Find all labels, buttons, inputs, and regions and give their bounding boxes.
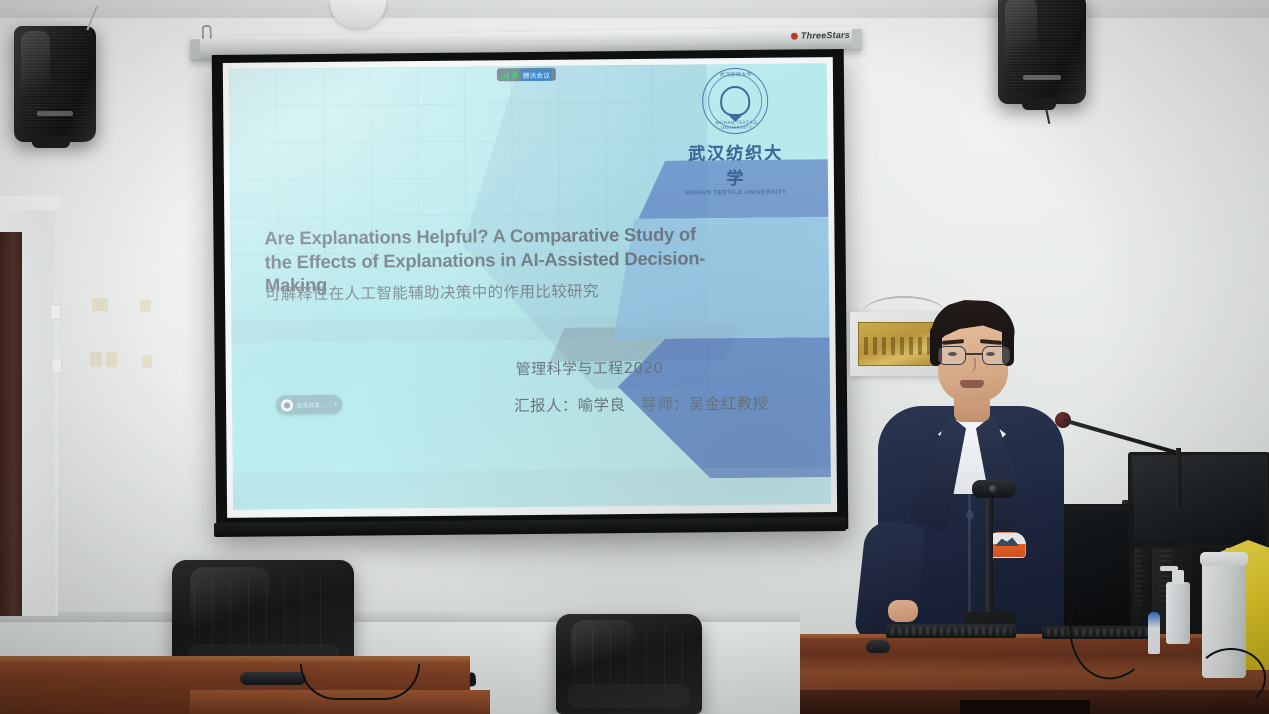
chair-lumbar	[568, 684, 691, 708]
mouse[interactable]	[866, 640, 890, 653]
slide-shape-bottom-band	[233, 467, 831, 510]
presenter-mouth	[960, 380, 984, 388]
wall-tape-mark	[142, 355, 152, 368]
slide-program-label: 管理科学与工程2020	[516, 357, 664, 379]
projector-screen-surface: 武汉纺织大学 WUHAN TEXTILE UNIVERSITY 武汉纺织大学 W…	[223, 57, 837, 518]
glasses-lens-right	[982, 346, 1010, 365]
webcam[interactable]	[972, 480, 1016, 498]
share-status-label: 正在共享…	[297, 400, 330, 408]
door-header-left	[0, 196, 60, 210]
chair-highlight	[190, 567, 270, 629]
jacket-button	[967, 512, 973, 518]
university-name-cn: 武汉纺织大学	[682, 139, 790, 190]
user-avatar-icon	[281, 399, 293, 411]
chair-highlight	[571, 620, 635, 672]
speaker-brand-badge	[1023, 75, 1062, 80]
seal-arc-top-text: 武汉纺织大学	[703, 71, 769, 79]
door-left[interactable]	[0, 232, 22, 616]
wall-tape-mark	[92, 298, 108, 311]
screen-brand-label: ThreeStars	[791, 30, 850, 41]
wall-tape-mark	[90, 352, 102, 367]
housing-endcap-right	[852, 29, 862, 49]
tumbler-lid	[1200, 552, 1248, 566]
table-cable	[300, 664, 420, 700]
three-stars-logo-icon	[791, 33, 798, 40]
green-status-dot-icon	[512, 72, 518, 78]
speaker-sheen	[1005, 0, 1037, 97]
desk-cable	[1196, 648, 1266, 708]
speaker-bracket-right	[1022, 98, 1056, 110]
meeting-status-chip[interactable]: 腾讯会议	[497, 68, 556, 82]
classroom-scene: ThreeStars 武汉纺织大学 WUHAN TEXTILE	[0, 0, 1269, 714]
office-chair-right[interactable]	[556, 614, 702, 714]
slide-title-chinese: 可解释性在人工智能辅助决策中的作用比较研究	[265, 278, 735, 305]
presenter-hand	[888, 600, 918, 622]
seal-glyph-icon	[720, 86, 750, 116]
webcam-base	[964, 612, 1016, 624]
projector-screen-frame: 武汉纺织大学 WUHAN TEXTILE UNIVERSITY 武汉纺织大学 W…	[212, 49, 849, 535]
wall-switch-plate[interactable]	[51, 358, 62, 374]
signal-bars-icon	[501, 71, 509, 79]
housing-endcap-left	[190, 39, 200, 59]
secondary-monitor[interactable]	[1128, 452, 1269, 548]
jacket-zipper	[968, 492, 971, 612]
slide-presenter-label: 汇报人：喻学良 导师：吴金红教授	[514, 392, 769, 416]
screen-pull-hook-icon[interactable]	[202, 25, 212, 39]
wall-tape-mark	[140, 300, 151, 312]
glasses-bridge	[966, 353, 982, 355]
hand-sanitizer-bottle	[1166, 582, 1190, 644]
monitor-panel	[1133, 457, 1265, 543]
wall-tape-mark	[106, 352, 117, 367]
university-seal-icon: 武汉纺织大学 WUHAN TEXTILE UNIVERSITY	[702, 68, 769, 135]
keyboard[interactable]	[886, 624, 1016, 638]
screen-brand-text: ThreeStars	[801, 30, 850, 41]
university-name-en: WUHAN TEXTILE UNIVERSITY	[682, 189, 790, 196]
chevron-left-icon[interactable]: ‹	[334, 400, 337, 408]
speaker-brand-badge	[37, 111, 73, 116]
meeting-app-label: 腾讯会议	[521, 68, 552, 80]
presentation-slide: 武汉纺织大学 WUHAN TEXTILE UNIVERSITY 武汉纺织大学 W…	[229, 63, 831, 510]
desk-opening	[960, 700, 1090, 714]
wall-speaker-right	[998, 0, 1086, 104]
university-logo: 武汉纺织大学 WUHAN TEXTILE UNIVERSITY 武汉纺织大学 W…	[681, 68, 790, 187]
seal-arc-bottom-text: WUHAN TEXTILE UNIVERSITY	[703, 120, 769, 131]
wall-switch-plate[interactable]	[50, 304, 61, 320]
wall-speaker-left	[14, 26, 96, 142]
glasses-lens-left	[938, 346, 966, 365]
floating-share-toolbar[interactable]: 正在共享… ‹	[276, 395, 342, 415]
boom-microphone-stand	[1176, 448, 1181, 508]
speaker-sheen	[21, 31, 51, 135]
table-microphone[interactable]	[240, 672, 306, 685]
speaker-bracket-left	[32, 136, 70, 148]
